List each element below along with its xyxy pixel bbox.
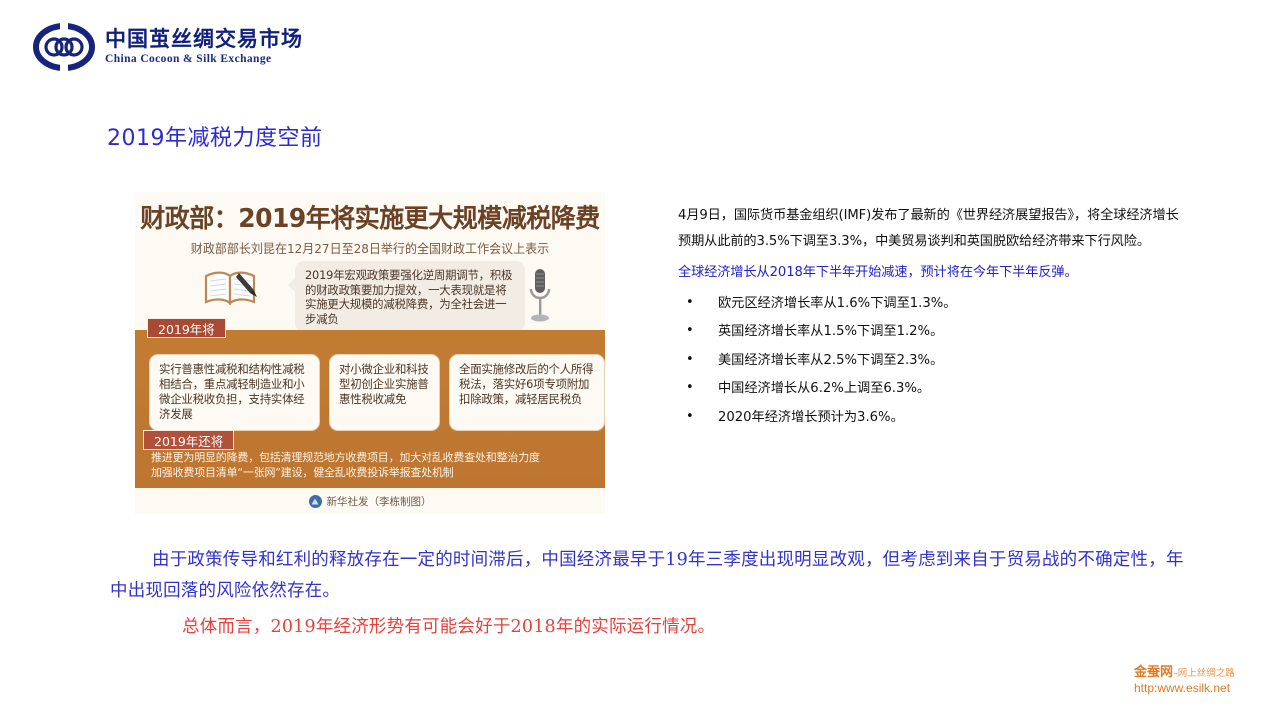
infographic-headline: 财政部：2019年将实施更大规模减税降费 [140,198,601,235]
policy-card: 对小微企业和科技型初创企业实施普惠性税收减免 [329,354,440,431]
watermark-name-text: 金蚕网 [1134,665,1173,680]
conclusion-paragraph: 由于政策传导和红利的释放存在一定的时间滞后，中国经济最早于19年三季度出现明显改… [110,545,1185,607]
xinhua-logo-icon [309,495,322,508]
list-item: 欧元区经济增长率从1.6%下调至1.3%。 [678,292,1186,317]
slide-canvas: 中国茧丝绸交易市场 China Cocoon & Silk Exchange 2… [0,0,1280,720]
brand-name-en: China Cocoon & Silk Exchange [105,54,303,66]
report-highlight: 全球经济增长从2018年下半年开始减速，预计将在今年下半年反弹。 [678,260,1186,286]
policy-card-text: 实行普惠性减税和结构性减税相结合，重点减轻制造业和小微企业税收负担，支持实体经济… [159,362,311,422]
list-item: 2020年经济增长预计为3.6%。 [678,406,1186,431]
quote-bubble: 2019年宏观政策要强化逆周期调节，积极的财政政策要加力提效，一大表现就是将实施… [295,261,525,332]
policy-card-list: 实行普惠性减税和结构性减税相结合，重点减轻制造业和小微企业税收负担，支持实体经济… [149,354,605,431]
report-lead: 4月9日，国际货币基金组织(IMF)发布了最新的《世界经济展望报告》，将全球经济… [678,203,1186,254]
brand-text: 中国茧丝绸交易市场 China Cocoon & Silk Exchange [105,29,303,66]
cocoon-oval-logo-icon [33,23,95,71]
policy-card: 全面实施修改后的个人所得税法，落实好6项专项附加扣除政策，减轻居民税负 [449,354,605,431]
brand-header: 中国茧丝绸交易市场 China Cocoon & Silk Exchange [33,23,303,71]
conclusion-block: 由于政策传导和红利的释放存在一定的时间滞后，中国经济最早于19年三季度出现明显改… [110,545,1185,643]
watermark-url: http:www.esilk.net [1134,681,1235,696]
infographic: 财政部：2019年将实施更大规模减税降费 财政部部长刘昆在12月27日至28日举… [135,192,605,514]
infographic-subhead: 财政部部长刘昆在12月27日至28日举行的全国财政工作会议上表示 [142,239,598,257]
tab-label-2019-also-will: 2019年还将 [143,430,234,450]
watermark-name: 金蚕网–网上丝绸之路 [1134,665,1235,681]
conclusion-red-note: 总体而言，2019年经济形势有可能会好于2018年的实际运行情况。 [110,612,1185,643]
tab-label-2019-will: 2019年将 [147,318,226,338]
page-title: 2019年减税力度空前 [107,120,323,152]
list-item: 英国经济增长率从1.5%下调至1.2%。 [678,320,1186,345]
policy-panel: 实行普惠性减税和结构性减税相结合，重点减轻制造业和小微企业税收负担，支持实体经济… [135,330,605,488]
microphone-icon [527,267,553,327]
infographic-header: 财政部：2019年将实施更大规模减税降费 财政部部长刘昆在12月27日至28日举… [135,192,605,257]
policy-card-text: 全面实施修改后的个人所得税法，落实好6项专项附加扣除政策，减轻居民税负 [459,362,596,407]
panel-footer-text: 推进更为明显的降费，包括清理规范地方收费项目，加大对乱收费查处和整治力度 加强收… [151,450,591,480]
report-text-block: 4月9日，国际货币基金组织(IMF)发布了最新的《世界经济展望报告》，将全球经济… [678,203,1186,434]
brand-name-cn: 中国茧丝绸交易市场 [105,29,303,50]
open-book-pen-icon [203,267,259,309]
panel-footer-line-1: 推进更为明显的降费，包括清理规范地方收费项目，加大对乱收费查处和整治力度 [151,450,591,465]
infographic-credit: 新华社发（李栋制图） [135,494,605,509]
list-item: 中国经济增长从6.2%上调至6.3%。 [678,377,1186,402]
watermark-tagline: –网上丝绸之路 [1173,668,1235,679]
report-bullet-list: 欧元区经济增长率从1.6%下调至1.3%。 英国经济增长率从1.5%下调至1.2… [678,292,1186,431]
panel-footer-line-2: 加强收费项目清单“一张网”建设，健全乱收费投诉举报查处机制 [151,465,591,480]
list-item: 美国经济增长率从2.5%下调至2.3%。 [678,349,1186,374]
policy-card-text: 对小微企业和科技型初创企业实施普惠性税收减免 [339,362,431,407]
watermark: 金蚕网–网上丝绸之路 http:www.esilk.net [1134,665,1235,696]
credit-text: 新华社发（李栋制图） [327,494,432,509]
quote-text: 2019年宏观政策要强化逆周期调节，积极的财政政策要加力提效，一大表现就是将实施… [305,268,516,326]
policy-card: 实行普惠性减税和结构性减税相结合，重点减轻制造业和小微企业税收负担，支持实体经济… [149,354,320,431]
